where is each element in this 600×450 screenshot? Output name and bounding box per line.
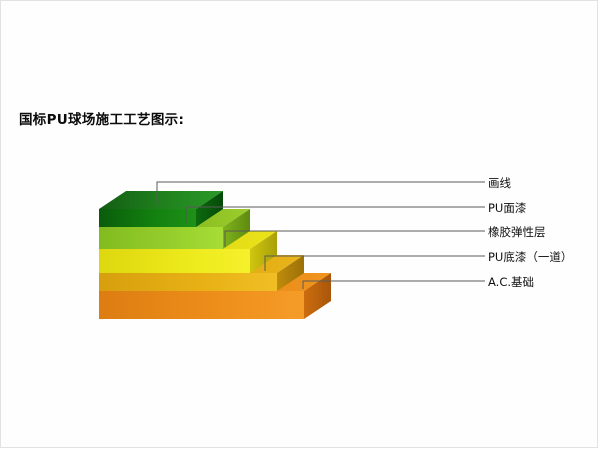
layer-front-face [99, 249, 250, 273]
label-rubber-elastic: 橡胶弹性层 [488, 225, 546, 239]
label-pu-topcoat: PU面漆 [488, 201, 526, 215]
layer-front-face [99, 291, 304, 319]
layer-front-face [99, 209, 196, 227]
diagram-canvas: 国标PU球场施工工艺图示: [0, 0, 598, 448]
layer-front-face [99, 273, 277, 291]
label-line-marking: 画线 [488, 176, 511, 190]
layer-front-face [99, 227, 223, 249]
label-ac-foundation: A.C.基础 [488, 275, 534, 289]
label-pu-primer: PU底漆（一道） [488, 250, 572, 264]
